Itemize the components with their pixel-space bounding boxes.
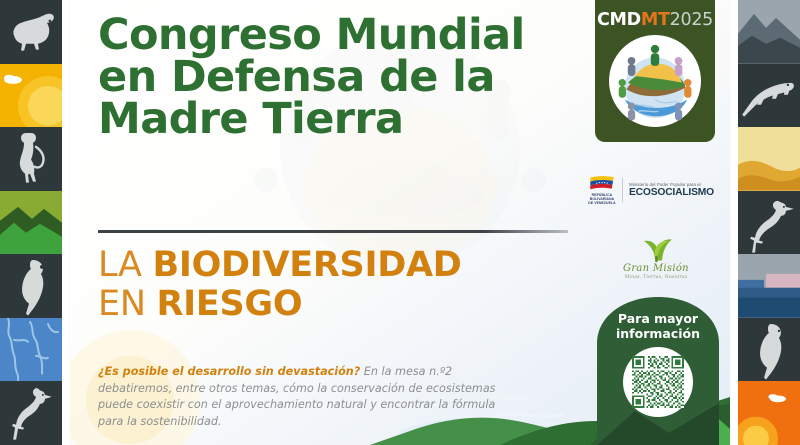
cmdmt-year: 2025 (670, 10, 713, 30)
subtitle-en: EN (98, 284, 157, 324)
cmdmt-badge: CMDMT2025 (595, 0, 715, 142)
desert-dunes-scene (738, 127, 800, 191)
subtitle-riesgo: RIESGO (157, 284, 303, 324)
title-divider (98, 230, 568, 233)
ministry-logo: REPÚBLICA BOLIVARIANA DE VENEZUELA Minis… (588, 173, 720, 207)
sun-cloud-scene (0, 64, 62, 128)
poster-root: Congreso Mundial en Defensa de la Madre … (0, 0, 800, 445)
ministry-line-2: ECOSOCIALISMO (629, 187, 720, 198)
parrot-silhouette (0, 254, 62, 318)
cmdmt-cmd: CMD (597, 10, 641, 30)
left-image-strip (0, 0, 62, 445)
river-scene (0, 318, 62, 382)
green-mountains-scene (0, 191, 62, 255)
cmdmt-mt: MT (641, 10, 670, 30)
qr-info-block[interactable]: Para mayor información (597, 297, 719, 445)
right-image-strip (738, 0, 800, 445)
qr-title: Para mayor información (597, 311, 719, 341)
description-paragraph: ¿Es posible el desarrollo sin devastació… (98, 364, 518, 430)
sprout-leaf-icon (633, 232, 679, 262)
subtitle: LA BIODIVERSIDAD EN RIESGO (98, 246, 598, 324)
heron-silhouette (0, 381, 62, 445)
capybara-silhouette (0, 0, 62, 64)
parrot-silhouette (738, 318, 800, 382)
globe-people-emblem (609, 35, 701, 127)
subtitle-line-1: LA BIODIVERSIDAD (98, 246, 598, 285)
page-title: Congreso Mundial en Defensa de la Madre … (98, 14, 568, 140)
venezuela-flag-icon (589, 175, 615, 192)
monkey-silhouette (0, 127, 62, 191)
qr-code[interactable] (623, 347, 693, 417)
subtitle-biodiversidad: BIODIVERSIDAD (152, 245, 461, 285)
gran-mision-line-2: Minas, Tierras, Nuestras (625, 275, 688, 280)
heron-silhouette (738, 191, 800, 255)
gran-mision-line-1: Gran Misión (623, 263, 689, 274)
venezuela-flag-logo: REPÚBLICA BOLIVARIANA DE VENEZUELA (588, 175, 616, 206)
orange-sunset-scene (738, 381, 800, 445)
crocodile-silhouette (738, 64, 800, 128)
subtitle-la: LA (98, 245, 152, 285)
ministry-text: Ministerio del Poder Popular para el ECO… (629, 182, 720, 199)
gray-mountains-scene (738, 0, 800, 64)
logo-divider (622, 178, 623, 202)
gran-mision-logo: Gran Misión Minas, Tierras, Nuestras (608, 232, 704, 290)
subtitle-line-2: EN RIESGO (98, 285, 598, 324)
cmdmt-wordmark: CMDMT2025 (597, 10, 713, 30)
description-question: ¿Es posible el desarrollo sin devastació… (98, 365, 360, 378)
tepui-mesa-scene (738, 254, 800, 318)
flag-caption: REPÚBLICA BOLIVARIANA DE VENEZUELA (588, 193, 616, 206)
